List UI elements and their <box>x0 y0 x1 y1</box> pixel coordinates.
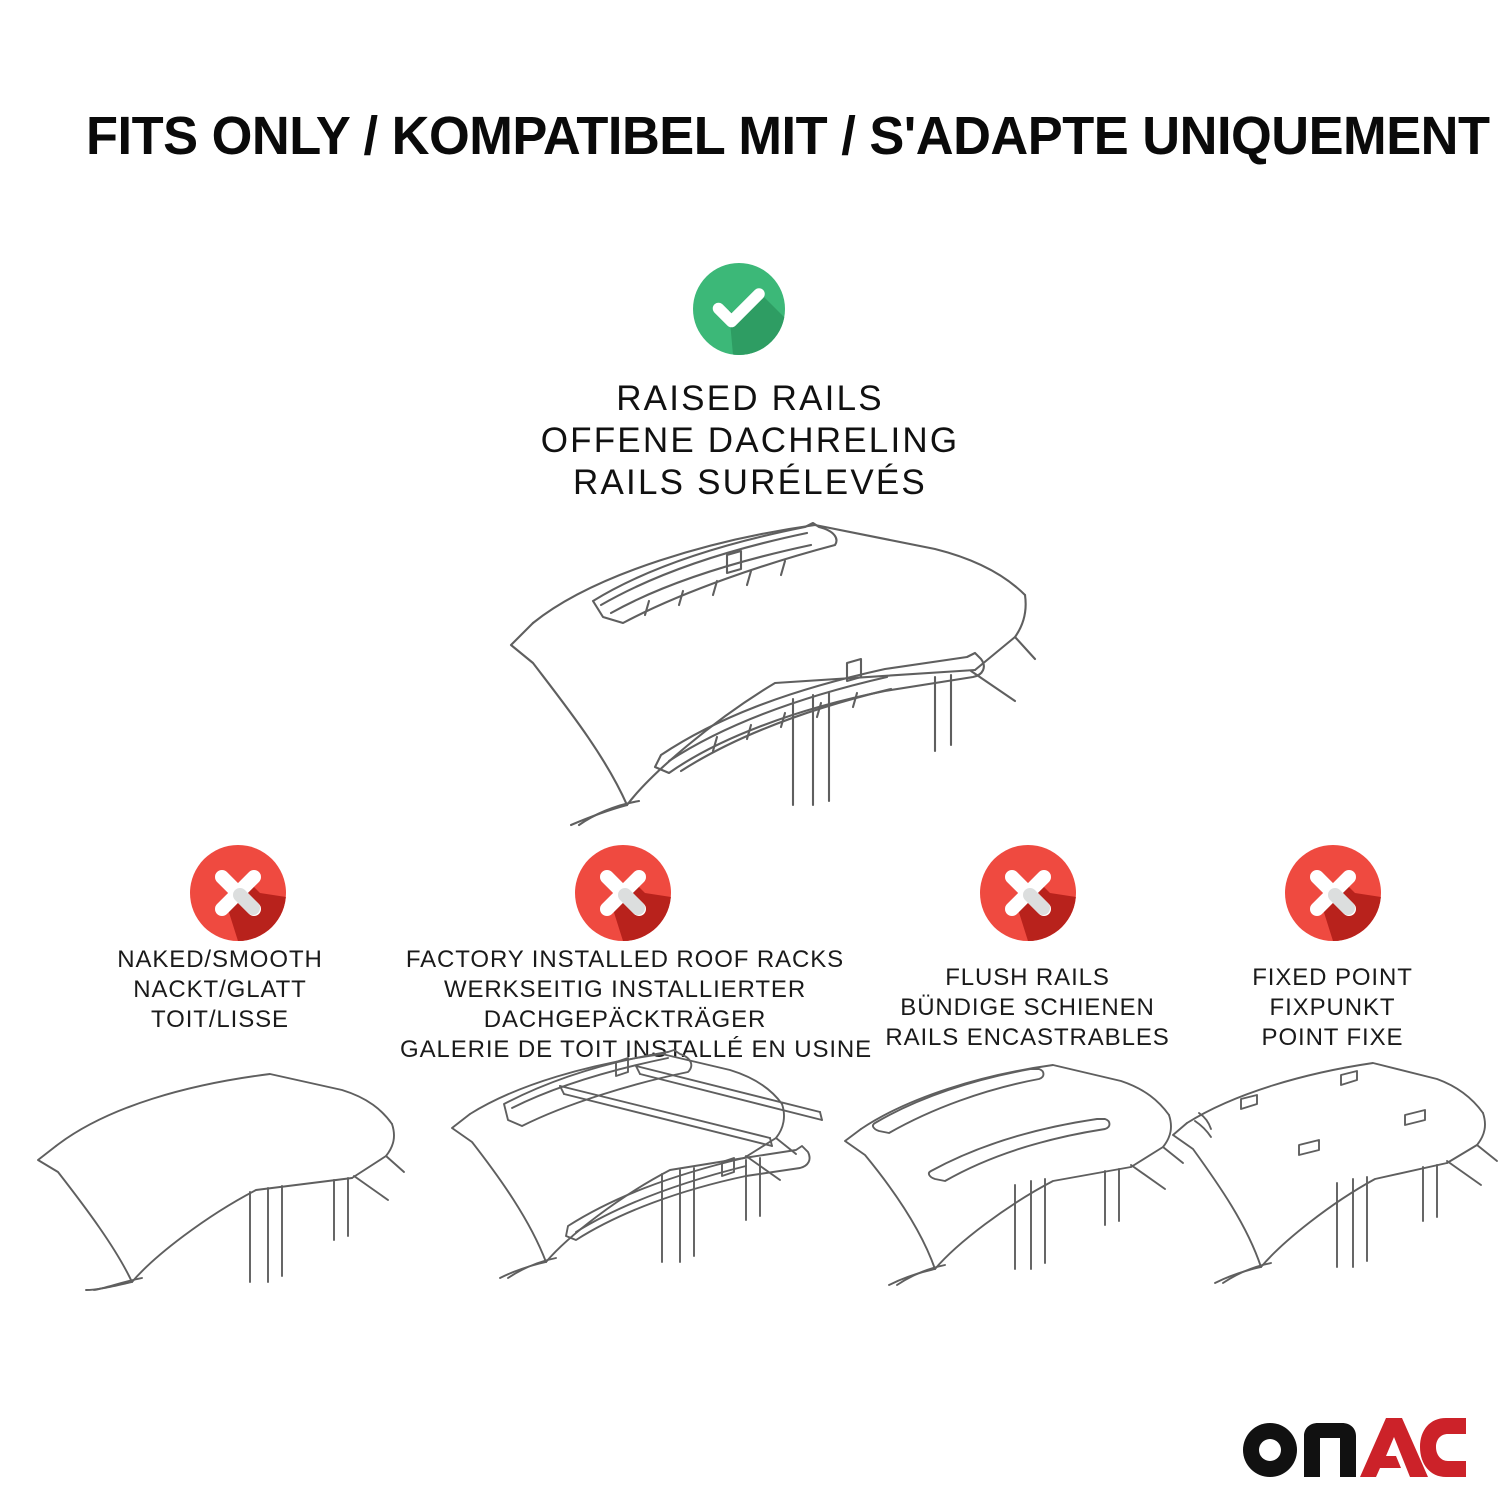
logo-letter-c <box>1420 1418 1466 1477</box>
option-label-line-de-2: DACHGEPÄCKTRÄGER <box>400 1005 850 1035</box>
compatible-label-line-fr: RAILS SURÉLEVÉS <box>420 462 1080 504</box>
page-title: FITS ONLY / KOMPATIBEL MIT / S'ADAPTE UN… <box>86 108 1386 165</box>
option-label-line-de-1: WERKSEITIG INSTALLIERTER <box>400 975 850 1005</box>
compatible-label-line-en: RAISED RAILS <box>420 378 1080 420</box>
cross-circle-icon <box>190 845 286 941</box>
option-label-line-fr: RAILS ENCASTRABLES <box>845 1023 1210 1053</box>
logo-letter-m <box>1304 1423 1356 1477</box>
option-label-line-fr: TOIT/LISSE <box>20 1005 420 1035</box>
car-roof-raised-rails-illustration <box>415 505 1085 825</box>
option-label: FLUSH RAILS BÜNDIGE SCHIENEN RAILS ENCAS… <box>845 963 1210 1053</box>
compatible-label-line-de: OFFENE DACHRELING <box>420 420 1080 462</box>
option-label-line-en: FACTORY INSTALLED ROOF RACKS <box>400 945 850 975</box>
car-roof-naked-smooth-illustration <box>20 1060 420 1290</box>
option-label-line-de: BÜNDIGE SCHIENEN <box>845 993 1210 1023</box>
car-roof-flush-rails-illustration <box>835 1057 1200 1287</box>
option-label-line-de: FIXPUNKT <box>1175 993 1490 1023</box>
car-roof-fixed-point-illustration <box>1165 1057 1480 1287</box>
cross-circle-icon <box>980 845 1076 941</box>
option-label: NAKED/SMOOTH NACKT/GLATT TOIT/LISSE <box>20 945 420 1035</box>
option-label: FACTORY INSTALLED ROOF RACKS WERKSEITIG … <box>400 945 850 1065</box>
cross-circle-icon <box>575 845 671 941</box>
cross-circle-icon <box>1285 845 1381 941</box>
fitment-chart-page: FITS ONLY / KOMPATIBEL MIT / S'ADAPTE UN… <box>0 0 1500 1500</box>
logo-letter-a <box>1360 1418 1428 1477</box>
option-label: FIXED POINT FIXPUNKT POINT FIXE <box>1175 963 1490 1053</box>
option-label-line-en: NAKED/SMOOTH <box>20 945 420 975</box>
option-label-line-en: FLUSH RAILS <box>845 963 1210 993</box>
option-label-line-fr: POINT FIXE <box>1175 1023 1490 1053</box>
check-circle-icon <box>693 263 785 355</box>
compatible-label: RAISED RAILS OFFENE DACHRELING RAILS SUR… <box>420 378 1080 504</box>
option-label-line-de: NACKT/GLATT <box>20 975 420 1005</box>
option-label-line-en: FIXED POINT <box>1175 963 1490 993</box>
omac-logo <box>1238 1410 1468 1480</box>
logo-letter-o <box>1243 1423 1297 1477</box>
car-roof-factory-roof-racks-illustration <box>400 1050 850 1280</box>
